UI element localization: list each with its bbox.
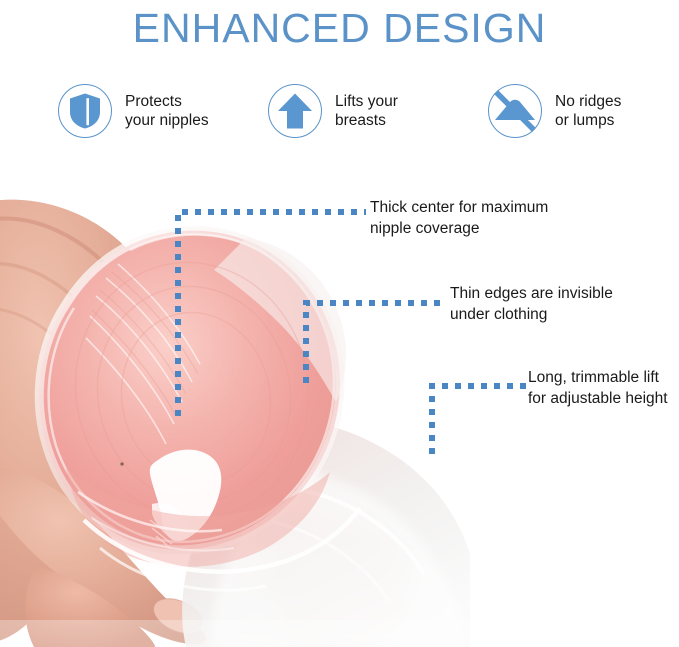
page-title: ENHANCED DESIGN [0,2,679,54]
callout-trimmable-lift: Long, trimmable lift for adjustable heig… [528,367,668,409]
feature-badge-no-lumps: No ridges or lumps [488,84,621,138]
shield-icon [68,92,102,130]
product-photo [0,168,470,647]
callout-thin-edges: Thin edges are invisible under clothing [450,283,613,325]
callout-thick-center: Thick center for maximum nipple coverage [370,197,548,239]
no-lumps-icon [492,88,538,134]
badge-circle [488,84,542,138]
feature-badge-protects: Protects your nipples [58,84,209,138]
up-arrow-icon [277,92,313,130]
badge-label: Lifts your breasts [335,92,398,131]
badge-circle [268,84,322,138]
badge-circle [58,84,112,138]
product-infographic: ENHANCED DESIGN [0,0,679,647]
feature-badge-lifts: Lifts your breasts [268,84,398,138]
badge-label: Protects your nipples [125,92,209,131]
badge-label: No ridges or lumps [555,92,621,131]
